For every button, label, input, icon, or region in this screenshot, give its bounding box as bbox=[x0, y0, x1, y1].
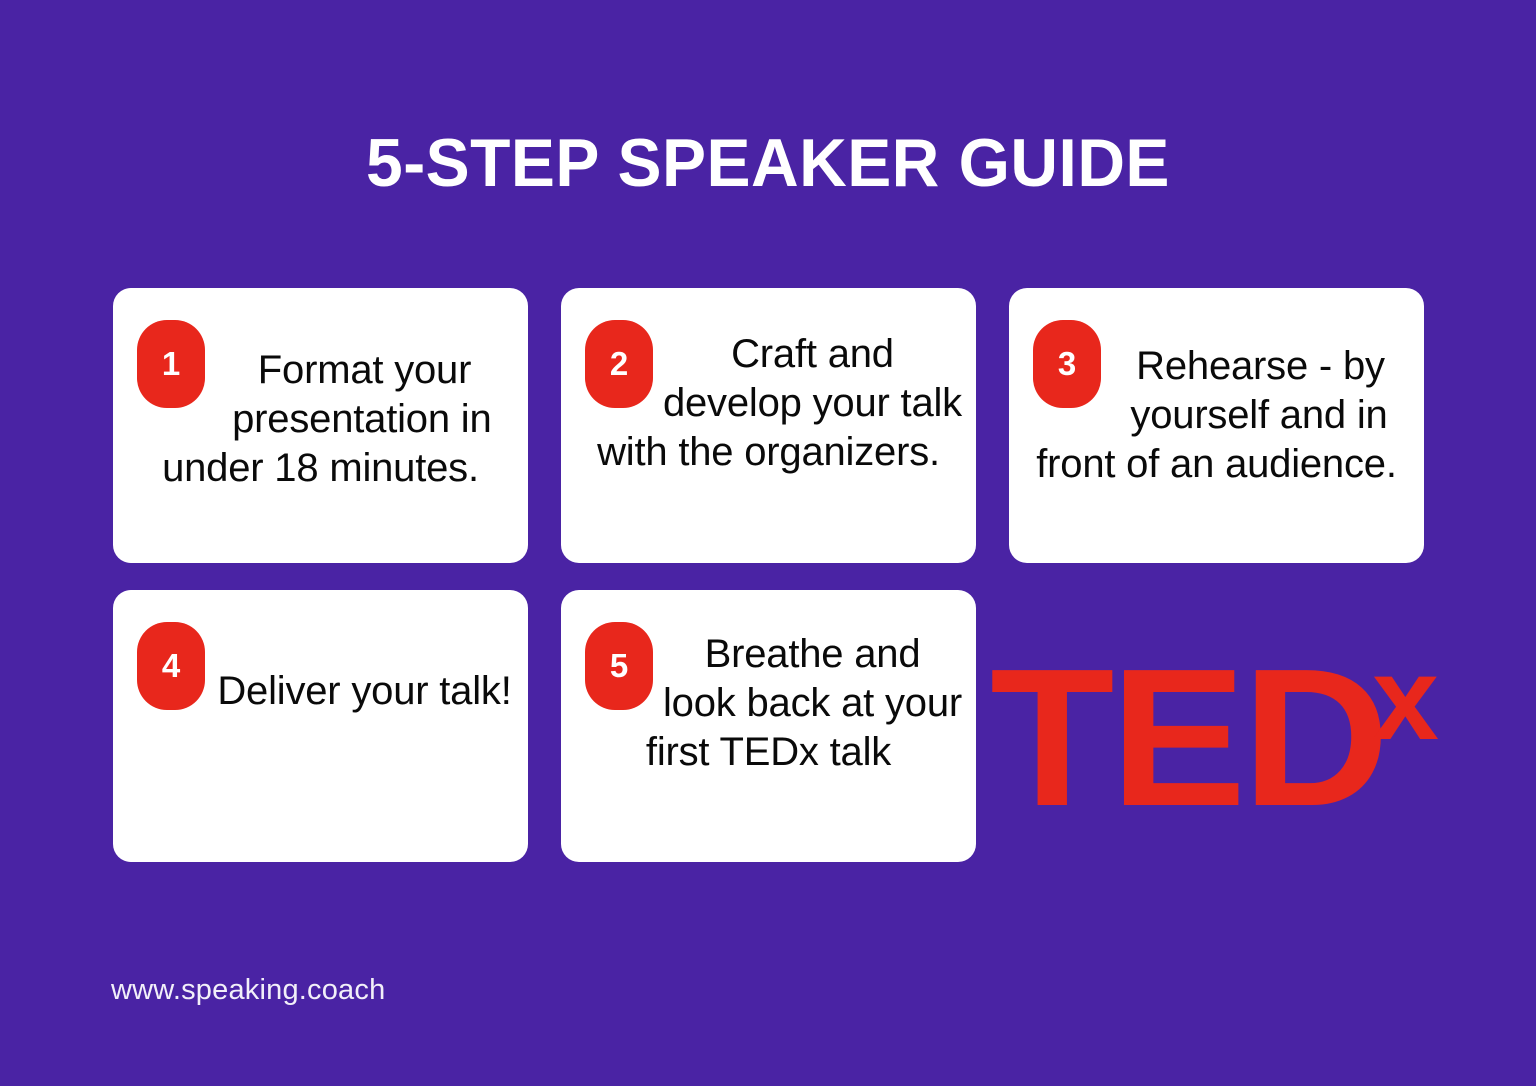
tedx-logo: TEDx bbox=[990, 640, 1438, 836]
step-card-4: 4 Deliver your talk! bbox=[113, 590, 528, 862]
step-card-3: 3 Rehearse - by yourself and in front of… bbox=[1009, 288, 1424, 563]
step-card-1-body: 1 Format your presentation in under 18 m… bbox=[127, 320, 514, 547]
step-number-badge-4: 4 bbox=[137, 622, 205, 710]
tedx-logo-ted: TED bbox=[990, 640, 1385, 836]
step-card-5-body: 5 Breathe and look back at your first TE… bbox=[575, 622, 962, 846]
step-card-1: 1 Format your presentation in under 18 m… bbox=[113, 288, 528, 563]
step-card-3-body: 3 Rehearse - by yourself and in front of… bbox=[1023, 320, 1410, 547]
page-title: 5-STEP SPEAKER GUIDE bbox=[23, 124, 1513, 202]
footer-website-url: www.speaking.coach bbox=[111, 974, 385, 1007]
step-card-5: 5 Breathe and look back at your first TE… bbox=[561, 590, 976, 862]
step-card-4-body: 4 Deliver your talk! bbox=[127, 622, 514, 846]
step-number-badge-5: 5 bbox=[585, 622, 653, 710]
tedx-logo-x: x bbox=[1372, 640, 1439, 758]
step-number-badge-1: 1 bbox=[137, 320, 205, 408]
step-number-badge-3: 3 bbox=[1033, 320, 1101, 408]
step-card-2-body: 2 Craft and develop your talk with the o… bbox=[575, 320, 962, 547]
step-card-2: 2 Craft and develop your talk with the o… bbox=[561, 288, 976, 563]
step-number-badge-2: 2 bbox=[585, 320, 653, 408]
